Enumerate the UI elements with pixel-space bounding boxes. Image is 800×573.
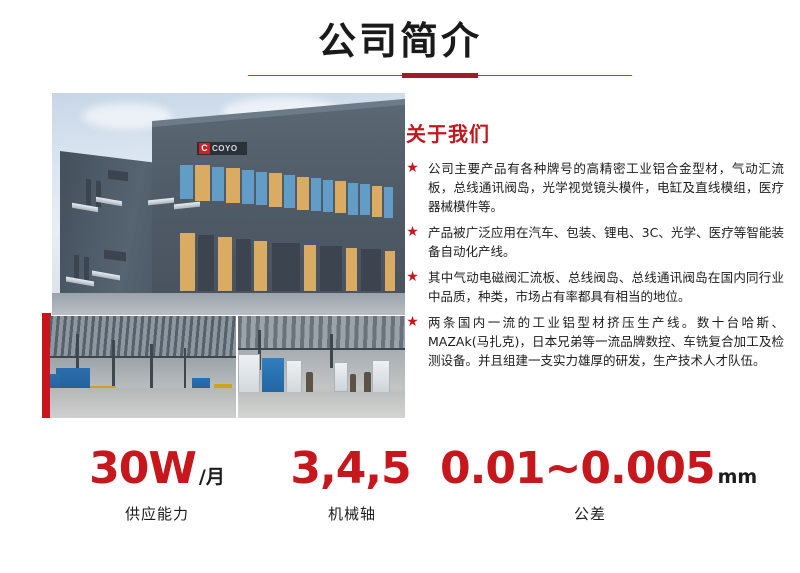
office-building-photo[interactable]: C COYO: [52, 93, 405, 315]
list-item: ★ 公司主要产品有各种牌号的高精密工业铝合金型材，气动汇流板，总线通讯阀岛，光学…: [406, 159, 784, 216]
support-column: [150, 344, 153, 394]
entrance-glazing: [320, 246, 342, 291]
workshop-floor: [50, 388, 236, 418]
facade-panel: [335, 181, 346, 213]
stat-label: 供应能力: [42, 503, 272, 524]
facade-panel-dark: [198, 235, 214, 291]
logo-mark: C: [199, 143, 210, 154]
stat-value-row: 0.01~0.005mm: [440, 443, 740, 494]
stat-value: 30W: [89, 443, 196, 494]
page-title: 公司简介: [0, 18, 800, 66]
window-pane: [212, 167, 224, 201]
bullet-text: 产品被广泛应用在汽车、包装、锂电、3C、光学、医疗等智能装备自动化产线。: [428, 223, 784, 261]
entrance-glazing: [272, 243, 300, 291]
facade-panel: [385, 251, 395, 291]
window-pane: [284, 175, 295, 208]
stat-unit: /月: [199, 466, 225, 488]
title-divider: [248, 72, 632, 80]
window-pane: [256, 172, 267, 205]
window-pane: [360, 184, 370, 215]
bullet-text: 两条国内一流的工业铝型材挤压生产线。数十台哈斯、MAZAk(马扎克)，日本兄弟等…: [428, 313, 784, 370]
logo-wordmark: COYO: [212, 144, 238, 153]
about-us-heading: 关于我们: [406, 118, 784, 147]
cnc-machine: [334, 362, 348, 392]
list-item: ★ 产品被广泛应用在汽车、包装、锂电、3C、光学、医疗等智能装备自动化产线。: [406, 223, 784, 261]
stat-supply-capacity: 30W/月 供应能力: [42, 443, 272, 524]
window-pane: [180, 165, 193, 199]
star-icon: ★: [406, 270, 419, 283]
support-column: [330, 334, 333, 368]
divider-center-accent: [402, 73, 478, 78]
page-title-block: 公司简介: [0, 18, 800, 66]
facade-panel: [218, 237, 232, 291]
facade-panel: [195, 165, 210, 201]
facade-panel-dark: [236, 239, 251, 291]
stat-tolerance: 0.01~0.005mm 公差: [440, 443, 740, 524]
window-pane: [348, 183, 358, 215]
window-pane: [323, 180, 333, 212]
stat-value: 0.01~0.005: [440, 443, 715, 494]
company-logo-sign: C COYO: [196, 141, 248, 156]
window-pane: [384, 187, 393, 218]
facade-panel: [226, 168, 240, 203]
facade-panel: [254, 241, 267, 291]
photo-gallery: C COYO: [42, 93, 405, 418]
about-us-bullet-list: ★ 公司主要产品有各种牌号的高精密工业铝合金型材，气动汇流板，总线通讯阀岛，光学…: [406, 159, 784, 370]
entrance-glazing: [361, 249, 381, 291]
stat-machine-axes: 3,4,5 机械轴: [262, 443, 442, 524]
stat-value-row: 30W/月: [42, 443, 272, 494]
list-item: ★ 两条国内一流的工业铝型材挤压生产线。数十台哈斯、MAZAk(马扎克)，日本兄…: [406, 313, 784, 370]
ground-pavement: [52, 293, 405, 315]
facade-panel: [297, 177, 309, 210]
company-profile-page: 公司简介 C COYO: [0, 0, 800, 573]
list-item: ★ 其中气动电磁阀汇流板、总线阀岛、总线通讯阀岛在国内同行业中品质，种类，市场占…: [406, 268, 784, 306]
stat-value-row: 3,4,5: [262, 443, 442, 494]
facade-panel: [269, 173, 282, 207]
window-pane: [242, 170, 254, 204]
star-icon: ★: [406, 315, 419, 328]
window-slit: [86, 179, 91, 206]
bullet-text: 公司主要产品有各种牌号的高精密工业铝合金型材，气动汇流板，总线通讯阀岛，光学视觉…: [428, 159, 784, 216]
worker-figure: [350, 374, 356, 394]
cnc-workshop-photo[interactable]: [238, 316, 405, 418]
window-pane: [311, 178, 321, 211]
extrusion-workshop-photo[interactable]: [50, 316, 236, 418]
stat-value: 3,4,5: [290, 443, 410, 494]
overhead-beam: [238, 348, 405, 350]
about-us-section: 关于我们 ★ 公司主要产品有各种牌号的高精密工业铝合金型材，气动汇流板，总线通讯…: [406, 118, 784, 377]
facade-panel: [346, 248, 357, 291]
facade-panel: [180, 233, 195, 291]
cnc-floor: [238, 392, 405, 418]
stat-label: 机械轴: [262, 503, 442, 524]
window-slit: [96, 181, 101, 208]
overhead-beam: [50, 356, 236, 358]
facade-panel: [372, 186, 382, 217]
support-column: [184, 348, 186, 392]
stat-unit: mm: [718, 466, 758, 488]
facade-panel: [304, 245, 316, 291]
star-icon: ★: [406, 225, 419, 238]
key-figures-row: 30W/月 供应能力 3,4,5 机械轴 0.01~0.005mm 公差: [0, 443, 800, 533]
star-icon: ★: [406, 161, 419, 174]
stat-label: 公差: [440, 503, 740, 524]
cnc-machine: [372, 360, 390, 394]
cnc-roof-structure: [238, 316, 405, 350]
bullet-text: 其中气动电磁阀汇流板、总线阀岛、总线通讯阀岛在国内同行业中品质，种类，市场占有率…: [428, 268, 784, 306]
